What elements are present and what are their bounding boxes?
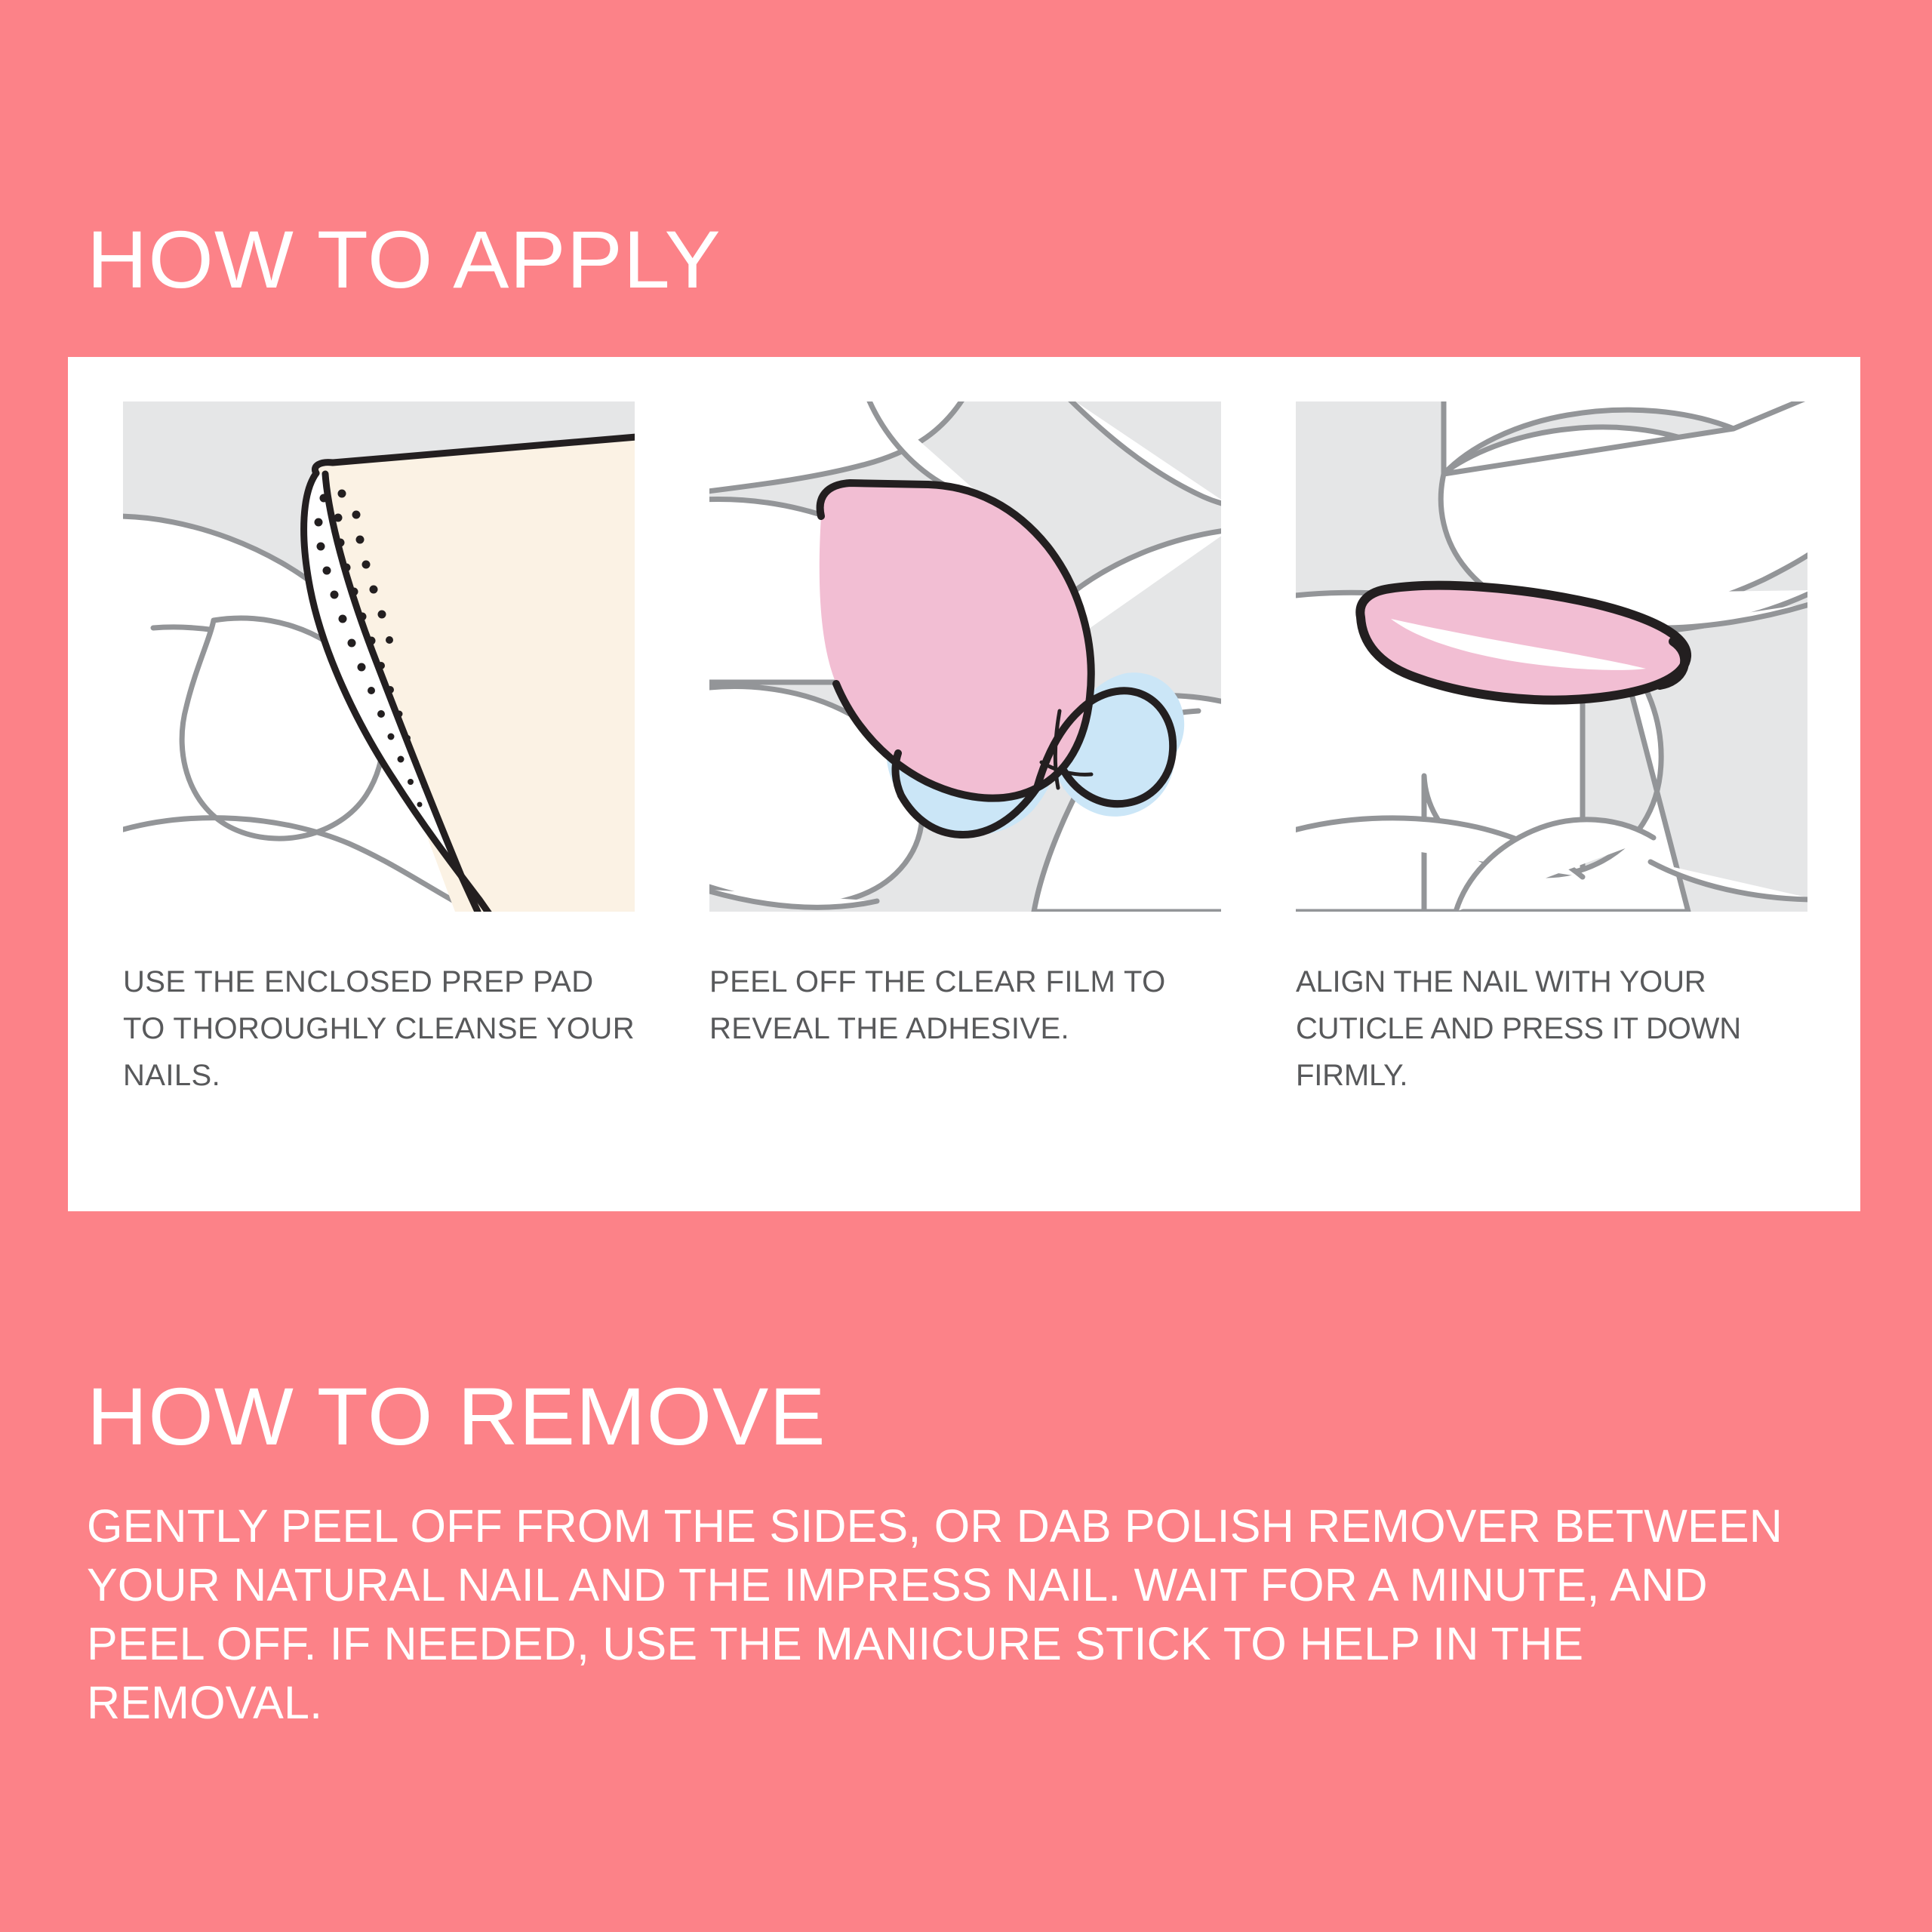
apply-step-1: USE THE ENCLOSED PREP PAD TO THOROUGHLY … [123,401,635,1099]
apply-steps-row: USE THE ENCLOSED PREP PAD TO THOROUGHLY … [123,401,1807,1099]
pressing-nail-onto-cuticle-illustration [1296,401,1807,912]
apply-step-3: ALIGN THE NAIL WITH YOUR CUTICLE AND PRE… [1296,401,1807,1099]
how-to-apply-heading: HOW TO APPLY [87,219,721,300]
apply-step-1-caption: USE THE ENCLOSED PREP PAD TO THOROUGHLY … [123,958,635,1099]
how-to-remove-body-text: GENTLY PEEL OFF FROM THE SIDES, OR DAB P… [87,1497,1800,1732]
prep-pad-cleansing-nail-illustration [123,401,635,912]
apply-step-2-caption: PEEL OFF THE CLEAR FILM TO REVEAL THE AD… [709,958,1221,1052]
how-to-remove-heading: HOW TO REMOVE [87,1376,826,1457]
apply-step-3-caption: ALIGN THE NAIL WITH YOUR CUTICLE AND PRE… [1296,958,1807,1099]
infographic-page: HOW TO APPLY [0,0,1932,1932]
apply-step-2: PEEL OFF THE CLEAR FILM TO REVEAL THE AD… [709,401,1221,1099]
peeling-clear-film-from-nail-illustration [709,401,1221,912]
apply-steps-card: USE THE ENCLOSED PREP PAD TO THOROUGHLY … [68,357,1860,1211]
